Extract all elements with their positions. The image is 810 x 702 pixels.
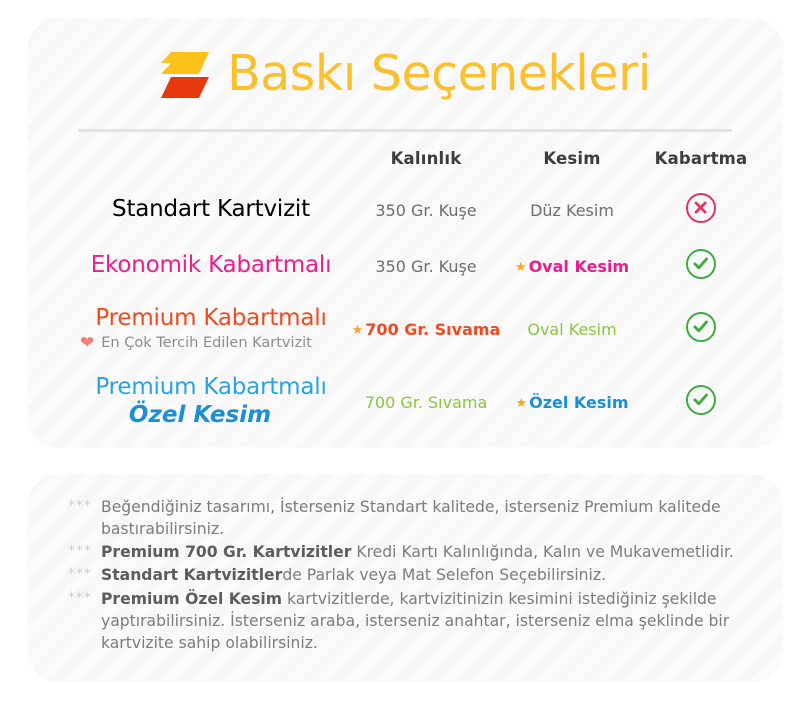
row-thickness-cell: ★700 Gr. Sıvama <box>350 294 502 364</box>
page-title: Baskı Seçenekleri <box>227 49 651 98</box>
thickness-value: 700 Gr. Sıvama <box>365 393 488 412</box>
thickness-value: 350 Gr. Kuşe <box>375 257 476 276</box>
note-plain: Beğendiğiniz tasarımı, İsterseniz Standa… <box>101 498 721 538</box>
parallelogram-logo-icon <box>159 50 211 100</box>
note-text: Standart Kartvizitlerde Parlak veya Mat … <box>101 564 768 586</box>
asterisk-bullet: *** <box>68 588 92 654</box>
row-thickness-cell: 700 Gr. Sıvama <box>350 364 502 440</box>
row-name-cell: Standart Kartvizit <box>50 182 350 238</box>
table-row[interactable]: Premium Kabartmalı Özel Kesim 700 Gr. Sı… <box>50 364 760 440</box>
cross-icon <box>686 193 716 223</box>
row-cut-cell: Oval Kesim <box>502 294 642 364</box>
check-icon <box>686 312 716 342</box>
column-header-kabartma: Kabartma <box>642 134 760 182</box>
notes-list: *** Beğendiğiniz tasarımı, İsterseniz St… <box>68 496 768 655</box>
row-name-cell: Premium Kabartmalı ❤ En Çok Tercih Edile… <box>50 294 350 364</box>
note-bold: Standart Kartvizitler <box>101 566 282 584</box>
row-thickness-cell: 350 Gr. Kuşe <box>350 238 502 294</box>
row-name-cell: Premium Kabartmalı Özel Kesim <box>50 364 350 440</box>
asterisk-bullet: *** <box>68 564 92 586</box>
check-icon <box>686 249 716 279</box>
note-bold: Premium Özel Kesim <box>101 590 282 608</box>
column-header-blank <box>50 134 350 182</box>
table-header-row: Kalınlık Kesim Kabartma <box>50 134 760 182</box>
star-icon: ★ <box>515 260 527 275</box>
table-row[interactable]: Ekonomik Kabartmalı 350 Gr. Kuşe ★Oval K… <box>50 238 760 294</box>
row-emboss-cell <box>642 294 760 364</box>
list-item: *** Beğendiğiniz tasarımı, İsterseniz St… <box>68 496 768 540</box>
options-table: Kalınlık Kesim Kabartma Standart Kartviz… <box>50 134 760 440</box>
notes-card: *** Beğendiğiniz tasarımı, İsterseniz St… <box>28 474 782 680</box>
note-plain: Kredi Kartı Kalınlığında, Kalın ve Mukav… <box>351 543 734 561</box>
column-header-kalinlik: Kalınlık <box>350 134 502 182</box>
row-label: Premium Kabartmalı <box>80 306 342 332</box>
list-item: *** Standart Kartvizitlerde Parlak veya … <box>68 564 768 586</box>
page-root: Baskı Seçenekleri Kalınlık Kesim Kabartm… <box>0 0 810 702</box>
heart-icon: ❤ <box>80 335 94 352</box>
note-text: Beğendiğiniz tasarımı, İsterseniz Standa… <box>101 496 768 540</box>
cut-value: Düz Kesim <box>530 201 614 220</box>
row-label: Premium Kabartmalı <box>80 375 342 401</box>
table-row[interactable]: Standart Kartvizit 350 Gr. Kuşe Düz Kesi… <box>50 182 760 238</box>
asterisk-bullet: *** <box>68 496 92 540</box>
row-name-cell: Ekonomik Kabartmalı <box>50 238 350 294</box>
row-label: Standart Kartvizit <box>80 197 342 223</box>
check-icon <box>686 385 716 415</box>
column-header-kesim: Kesim <box>502 134 642 182</box>
thickness-value: 350 Gr. Kuşe <box>375 201 476 220</box>
cut-value: Özel Kesim <box>529 393 628 412</box>
row-sublabel-wrap: ❤ En Çok Tercih Edilen Kartvizit <box>80 335 342 352</box>
row-label: Ekonomik Kabartmalı <box>80 253 342 279</box>
star-icon: ★ <box>515 396 527 411</box>
cut-value: Oval Kesim <box>529 257 630 276</box>
row-sublabel: En Çok Tercih Edilen Kartvizit <box>101 335 312 352</box>
list-item: *** Premium 700 Gr. Kartvizitler Kredi K… <box>68 541 768 563</box>
row-emboss-cell <box>642 182 760 238</box>
row-cut-cell: ★Oval Kesim <box>502 238 642 294</box>
row-cut-cell: Düz Kesim <box>502 182 642 238</box>
thickness-value: 700 Gr. Sıvama <box>365 320 500 339</box>
note-bold: Premium 700 Gr. Kartvizitler <box>101 543 351 561</box>
note-text: Premium Özel Kesim kartvizitlerde, kartv… <box>101 588 768 654</box>
header: Baskı Seçenekleri <box>28 34 782 112</box>
header-divider <box>78 129 732 132</box>
star-icon: ★ <box>352 323 364 338</box>
row-sublabel: Özel Kesim <box>80 402 342 428</box>
options-table-card: Baskı Seçenekleri Kalınlık Kesim Kabartm… <box>28 18 782 446</box>
table-row[interactable]: Premium Kabartmalı ❤ En Çok Tercih Edile… <box>50 294 760 364</box>
list-item: *** Premium Özel Kesim kartvizitlerde, k… <box>68 588 768 654</box>
row-cut-cell: ★Özel Kesim <box>502 364 642 440</box>
note-plain: de Parlak veya Mat Selefon Seçebilirsini… <box>282 566 606 584</box>
note-text: Premium 700 Gr. Kartvizitler Kredi Kartı… <box>101 541 768 563</box>
row-thickness-cell: 350 Gr. Kuşe <box>350 182 502 238</box>
row-emboss-cell <box>642 364 760 440</box>
cut-value: Oval Kesim <box>527 320 616 339</box>
asterisk-bullet: *** <box>68 541 92 563</box>
row-emboss-cell <box>642 238 760 294</box>
